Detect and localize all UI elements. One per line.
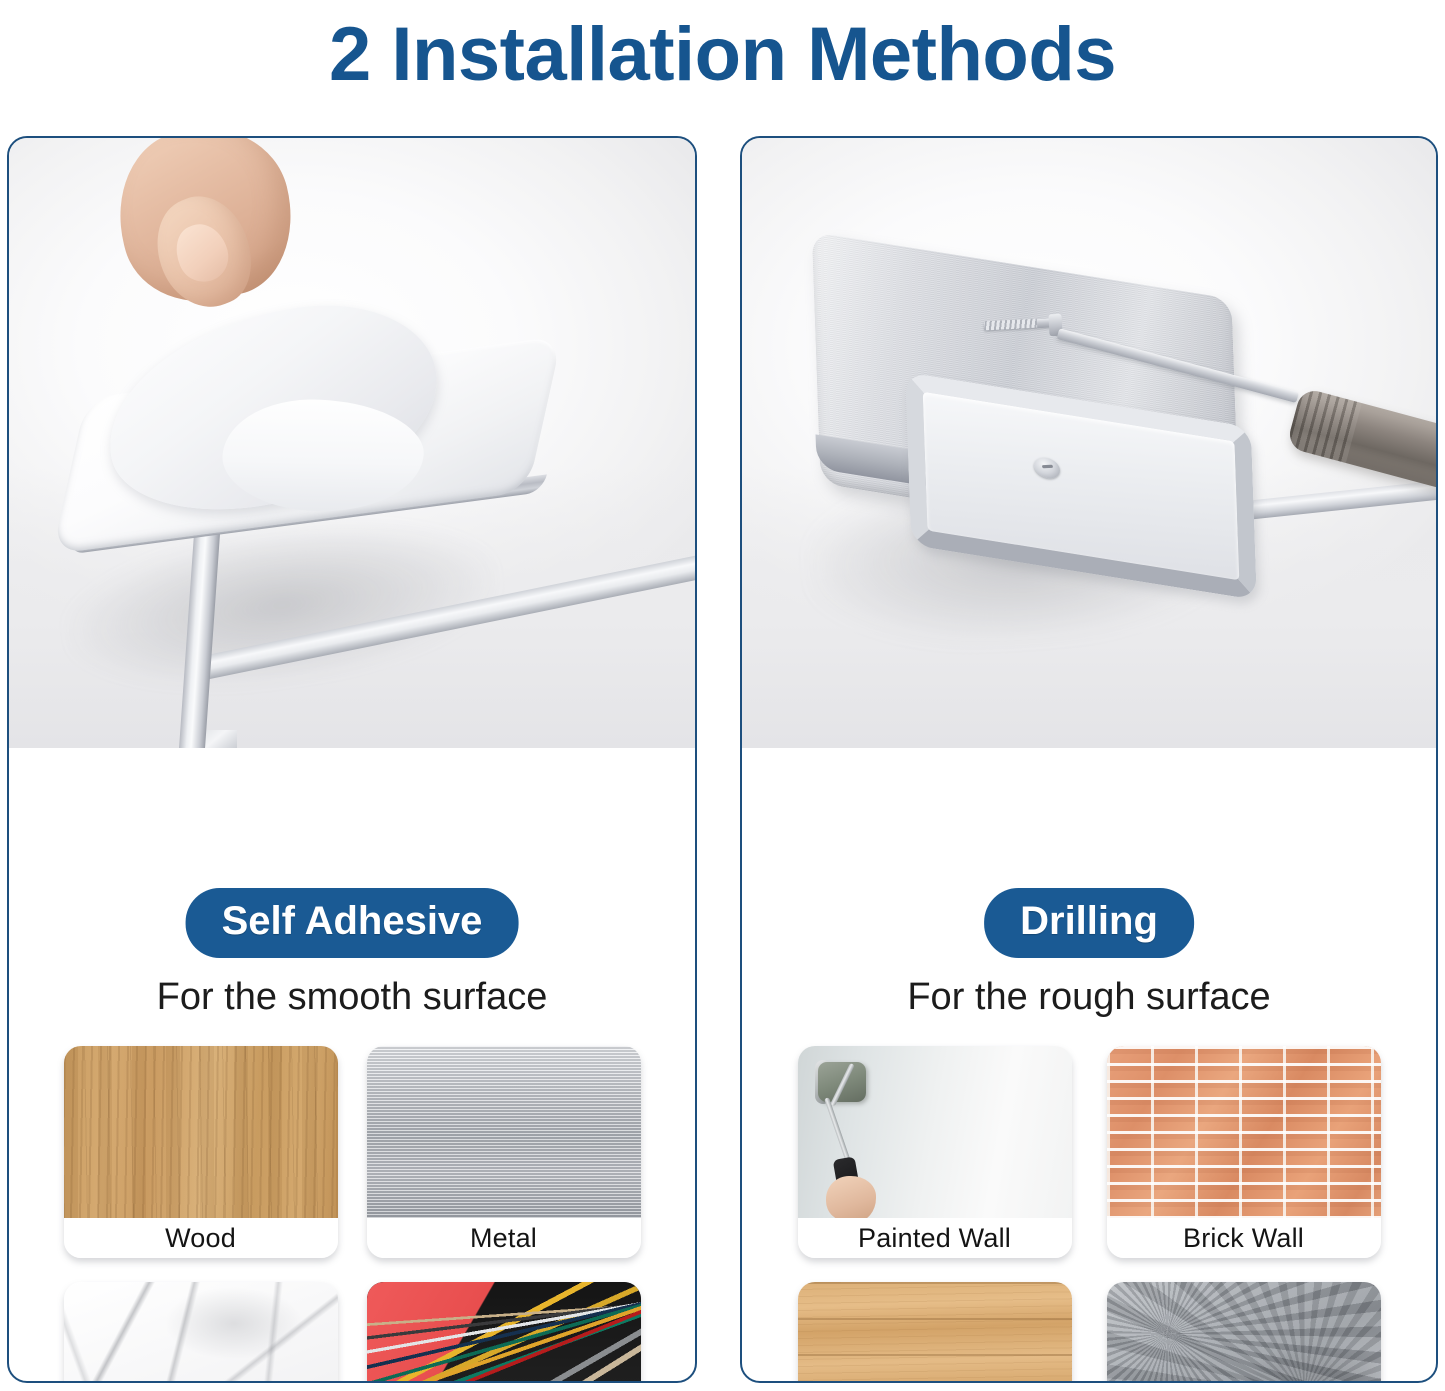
surface-card-marble: Marble: [64, 1282, 338, 1383]
product-photo-self-adhesive: [9, 138, 695, 748]
surface-card-plastic-plank: Plastic Plank: [367, 1282, 641, 1383]
surface-card-wood: Wood: [64, 1046, 338, 1258]
method-badge-drilling: Drilling: [984, 888, 1194, 958]
surface-card-painted-wall: Painted Wall: [798, 1046, 1072, 1258]
marble-texture-image: [64, 1282, 338, 1383]
surface-card-metal: Metal: [367, 1046, 641, 1258]
method-panel-drilling: Drilling For the rough surface Painted W…: [740, 136, 1438, 1383]
product-photo-drilling: [742, 138, 1436, 748]
method-panel-self-adhesive: Self Adhesive For the smooth surface Woo…: [7, 136, 697, 1383]
page-title: 2 Installation Methods: [0, 2, 1445, 107]
surface-label: Brick Wall: [1107, 1218, 1381, 1258]
painted-wall-texture-image: [798, 1046, 1072, 1218]
surface-grid-self-adhesive: Wood Metal Marble Plastic Plank: [9, 1046, 695, 1383]
plastic-plank-texture-image: [367, 1282, 641, 1383]
wood-texture-image: [64, 1046, 338, 1218]
surface-card-wooden-wall: Wooden Wall: [798, 1282, 1072, 1383]
brick-texture-image: [1107, 1046, 1381, 1218]
surface-label: Painted Wall: [798, 1218, 1072, 1258]
rough-concrete-texture-image: [1107, 1282, 1381, 1383]
surface-label: Wood: [64, 1218, 338, 1258]
hand-icon: [826, 1176, 876, 1222]
method-caption-drilling: For the rough surface: [742, 976, 1436, 1019]
surface-grid-drilling: Painted Wall Brick Wall Wooden Wall Roug…: [742, 1046, 1436, 1383]
method-caption-self-adhesive: For the smooth surface: [9, 976, 695, 1019]
method-badge-self-adhesive: Self Adhesive: [186, 888, 519, 958]
surface-label: Metal: [367, 1218, 641, 1258]
surface-card-rough-surface: Rough Surface: [1107, 1282, 1381, 1383]
screw-slot-icon: [1042, 465, 1053, 469]
surface-card-brick-wall: Brick Wall: [1107, 1046, 1381, 1258]
wooden-wall-texture-image: [798, 1282, 1072, 1383]
metal-texture-image: [367, 1046, 641, 1218]
infographic-page: 2 Installation Methods Self Adhesive For…: [0, 0, 1445, 1391]
